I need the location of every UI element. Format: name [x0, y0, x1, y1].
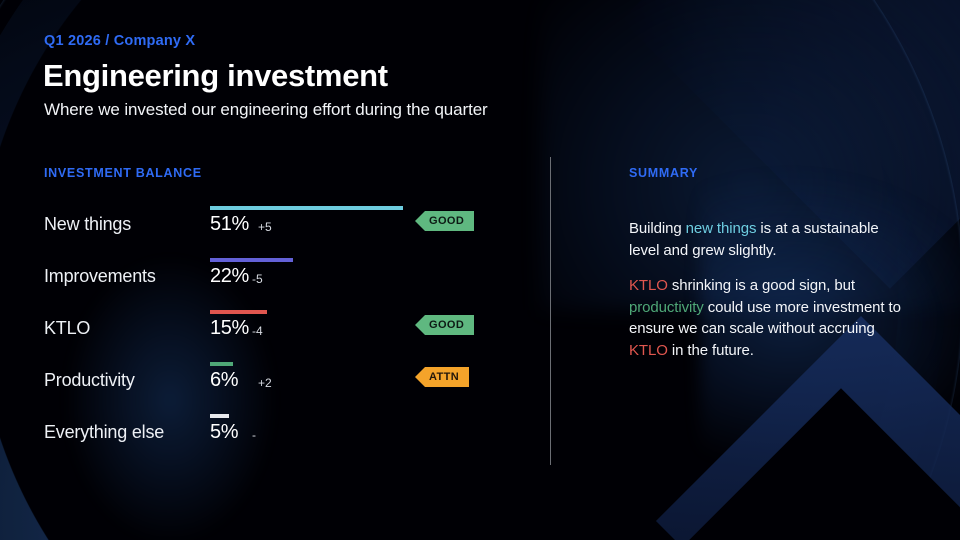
row-label-ktlo: KTLO: [44, 318, 90, 339]
summary-paragraph-2: KTLO shrinking is a good sign, but produ…: [629, 275, 909, 361]
delta-label: -: [252, 428, 256, 442]
summary-p1-highlight-new-things: new things: [686, 220, 757, 237]
row-label-everything-else: Everything else: [44, 422, 164, 443]
summary-paragraph-1: Building new things is at a sustainable …: [629, 218, 909, 261]
investment-balance-label: INVESTMENT BALANCE: [44, 166, 202, 180]
delta-label: -5: [252, 272, 263, 286]
status-badge: ATTN: [415, 367, 469, 387]
bar-track: [210, 258, 410, 263]
value-label: 51%: [210, 213, 249, 236]
row-label-new-things: New things: [44, 214, 131, 235]
summary-body: Building new things is at a sustainable …: [629, 218, 909, 375]
bar-track: [210, 414, 410, 419]
delta-label: -4: [252, 324, 263, 338]
delta-label: +2: [258, 376, 272, 390]
value-label: 5%: [210, 421, 238, 444]
summary-label: SUMMARY: [629, 166, 698, 180]
bar-track: [210, 206, 410, 211]
bar-ktlo: [210, 310, 267, 314]
summary-p2-highlight-ktlo-1: KTLO: [629, 277, 668, 294]
status-badge: GOOD: [415, 315, 474, 335]
row-label-productivity: Productivity: [44, 370, 135, 391]
page-title: Engineering investment: [43, 58, 388, 94]
value-label: 15%: [210, 317, 249, 340]
status-badge: GOOD: [415, 211, 474, 231]
investment-row: Everything else5%-: [0, 414, 520, 454]
bar-new-things: [210, 206, 403, 210]
bar-everything-else: [210, 414, 229, 418]
bar-track: [210, 310, 410, 315]
summary-p2-highlight-ktlo-2: KTLO: [629, 342, 668, 359]
value-label: 6%: [210, 369, 238, 392]
page-subtitle: Where we invested our engineering effort…: [44, 100, 488, 120]
summary-p1-part1: Building: [629, 220, 686, 237]
investment-row: KTLO15%-4GOOD: [0, 310, 520, 350]
breadcrumb: Q1 2026 / Company X: [44, 33, 195, 49]
delta-label: +5: [258, 220, 272, 234]
summary-p2-part1: shrinking is a good sign, but: [668, 277, 855, 294]
investment-row: Improvements22%-5: [0, 258, 520, 298]
column-divider: [550, 157, 551, 465]
investment-row: New things51%+5GOOD: [0, 206, 520, 246]
summary-p2-part3: in the future.: [668, 342, 754, 359]
bar-improvements: [210, 258, 293, 262]
row-label-improvements: Improvements: [44, 266, 156, 287]
bar-track: [210, 362, 410, 367]
investment-row: Productivity6%+2ATTN: [0, 362, 520, 402]
value-label: 22%: [210, 265, 249, 288]
bar-productivity: [210, 362, 233, 366]
summary-p2-highlight-productivity: productivity: [629, 299, 704, 316]
